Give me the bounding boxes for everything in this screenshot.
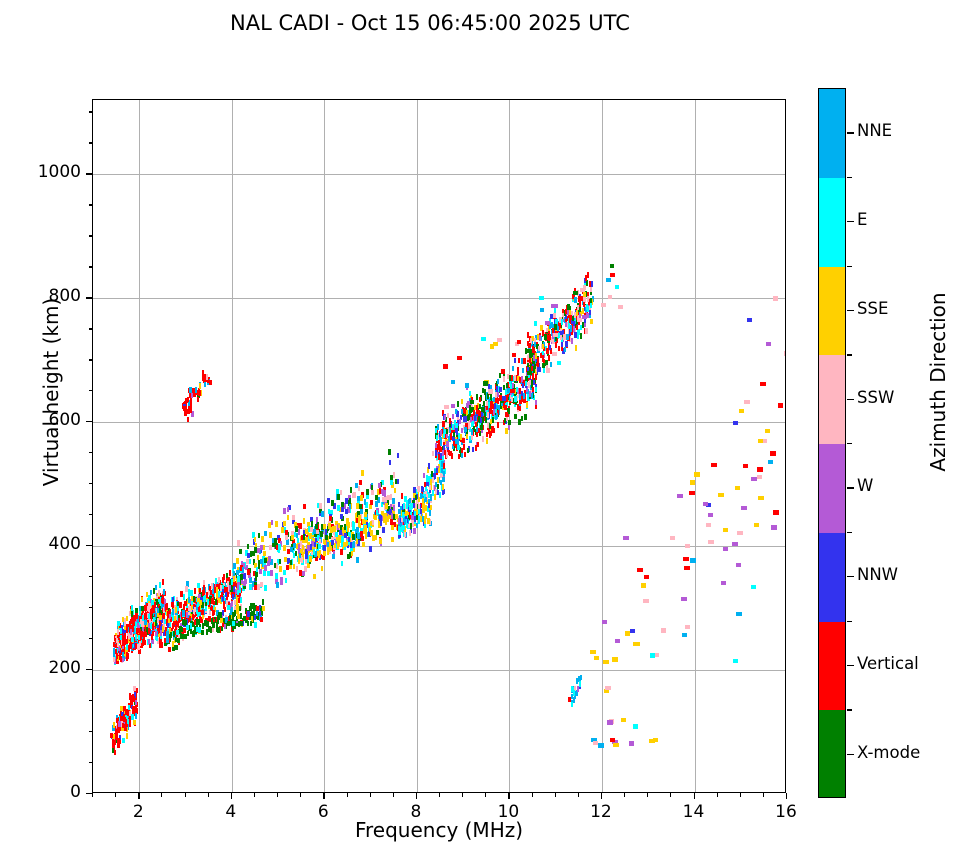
data-point xyxy=(488,390,493,394)
data-point xyxy=(117,738,120,744)
data-point xyxy=(633,724,639,728)
data-point xyxy=(185,406,187,412)
data-point xyxy=(535,387,537,393)
data-point xyxy=(390,519,393,525)
data-point xyxy=(436,435,438,441)
data-point xyxy=(187,397,189,403)
data-point xyxy=(264,531,267,537)
data-point xyxy=(332,554,335,560)
x-tick-major xyxy=(508,793,509,799)
data-point xyxy=(167,611,169,617)
data-point xyxy=(162,579,164,585)
data-point xyxy=(243,616,246,622)
data-point xyxy=(560,335,562,341)
data-point xyxy=(480,425,482,431)
data-point xyxy=(618,305,623,309)
data-point xyxy=(198,627,201,633)
data-point xyxy=(162,626,164,632)
data-point xyxy=(703,502,709,506)
data-point xyxy=(451,453,453,459)
data-point xyxy=(389,460,392,466)
colorbar-title: Azimuth Direction xyxy=(926,232,950,532)
data-point xyxy=(478,416,480,422)
data-point xyxy=(607,720,613,724)
data-point xyxy=(321,566,324,572)
data-point xyxy=(385,520,388,526)
colorbar-segment-x-mode[interactable] xyxy=(819,710,845,798)
data-point xyxy=(409,530,411,536)
data-point xyxy=(398,518,400,524)
data-point xyxy=(574,297,576,303)
y-tick-minor xyxy=(89,111,93,112)
data-point xyxy=(395,479,398,485)
data-point xyxy=(261,536,264,542)
data-point xyxy=(135,634,137,640)
data-point xyxy=(482,436,484,442)
data-point xyxy=(193,596,195,602)
data-point xyxy=(422,487,424,493)
data-point xyxy=(765,429,771,433)
y-tick-minor xyxy=(89,390,93,391)
data-point xyxy=(486,438,488,444)
data-point xyxy=(114,750,117,756)
data-point xyxy=(358,515,361,521)
data-point xyxy=(366,489,369,495)
data-point xyxy=(352,525,355,531)
data-point xyxy=(356,557,359,563)
colorbar-boundary-tick xyxy=(847,532,852,533)
data-point xyxy=(463,444,465,450)
data-point xyxy=(290,547,293,553)
colorbar-segment-nne[interactable] xyxy=(819,89,845,178)
data-point xyxy=(554,324,556,330)
data-point xyxy=(681,597,687,601)
y-tick-minor xyxy=(89,204,93,205)
data-point xyxy=(511,397,513,403)
colorbar-tick xyxy=(847,310,854,311)
data-point xyxy=(285,530,288,536)
data-point xyxy=(212,610,214,616)
data-point xyxy=(131,637,133,643)
data-point xyxy=(299,553,302,559)
data-point xyxy=(260,545,263,551)
data-point xyxy=(136,628,138,634)
data-point xyxy=(390,480,393,486)
colorbar-segment-e[interactable] xyxy=(819,178,845,267)
colorbar-tick xyxy=(847,132,854,133)
data-point xyxy=(365,533,368,539)
data-point xyxy=(338,523,341,529)
data-point xyxy=(457,445,459,451)
x-tick-major xyxy=(786,793,787,799)
data-point xyxy=(553,333,558,337)
data-point xyxy=(539,335,541,341)
data-point xyxy=(287,515,290,521)
data-point xyxy=(457,356,462,360)
data-point xyxy=(443,463,445,469)
data-point xyxy=(271,520,274,526)
data-point xyxy=(122,640,124,646)
data-point xyxy=(519,394,521,400)
data-point xyxy=(129,693,132,699)
data-point xyxy=(531,380,533,386)
x-tick-minor xyxy=(624,793,625,797)
data-point xyxy=(231,601,233,607)
data-point xyxy=(573,291,578,295)
data-point xyxy=(518,358,520,364)
x-tick-major xyxy=(416,793,417,799)
data-point xyxy=(133,686,136,692)
colorbar-segment-ssw[interactable] xyxy=(819,355,845,444)
data-point xyxy=(545,321,550,325)
data-point xyxy=(444,415,446,421)
data-point xyxy=(375,495,378,501)
data-point xyxy=(534,321,536,327)
data-point xyxy=(314,542,317,548)
y-tick-major xyxy=(86,669,92,670)
data-point xyxy=(606,278,611,282)
data-point xyxy=(337,505,340,511)
data-point xyxy=(215,599,217,605)
data-point xyxy=(175,607,177,613)
data-point xyxy=(264,585,267,591)
data-point xyxy=(124,633,126,639)
data-point xyxy=(375,501,378,507)
data-point xyxy=(233,576,235,582)
data-point xyxy=(340,514,343,520)
data-point xyxy=(349,498,352,504)
data-point xyxy=(209,380,211,386)
data-point xyxy=(168,647,171,653)
data-point xyxy=(117,743,120,749)
data-point xyxy=(582,315,587,319)
data-point xyxy=(323,545,326,551)
data-point xyxy=(587,313,589,319)
data-point xyxy=(452,414,454,420)
data-point xyxy=(497,379,499,385)
data-point xyxy=(736,563,742,567)
data-point xyxy=(275,521,278,527)
data-point xyxy=(573,697,575,703)
data-point xyxy=(563,334,565,340)
data-point xyxy=(364,499,367,505)
data-point xyxy=(305,529,308,535)
colorbar-segment-sse[interactable] xyxy=(819,267,845,356)
data-point xyxy=(446,441,448,447)
plot-area[interactable] xyxy=(92,99,786,793)
data-point xyxy=(283,570,286,576)
data-point xyxy=(428,476,430,482)
data-point xyxy=(552,352,557,356)
data-point xyxy=(311,521,314,527)
data-point xyxy=(397,453,400,459)
data-point xyxy=(217,618,220,624)
data-point xyxy=(528,343,530,349)
data-point xyxy=(567,304,569,310)
colorbar-label-nnw: NNW xyxy=(857,565,898,584)
data-point xyxy=(424,482,426,488)
data-point xyxy=(502,396,507,400)
data-point xyxy=(175,637,178,643)
colorbar-segment-w[interactable] xyxy=(819,444,845,533)
data-point xyxy=(371,485,374,491)
data-point xyxy=(685,625,691,629)
scatter-data xyxy=(93,100,785,792)
y-tick-label: 200 xyxy=(8,658,81,678)
data-point xyxy=(416,515,418,521)
data-point xyxy=(587,272,589,278)
data-point xyxy=(232,594,234,600)
data-point xyxy=(247,621,250,627)
data-point xyxy=(186,625,189,631)
y-tick-major xyxy=(86,297,92,298)
data-point xyxy=(224,607,226,613)
data-point xyxy=(352,534,355,540)
data-point xyxy=(757,475,763,479)
colorbar-label-x-mode: X-mode xyxy=(857,743,920,762)
data-point xyxy=(613,743,619,747)
data-point xyxy=(546,348,548,354)
data-point xyxy=(293,564,296,570)
data-point xyxy=(587,296,589,302)
data-point xyxy=(577,334,579,340)
data-point xyxy=(542,344,544,350)
colorbar-tick xyxy=(847,576,854,577)
data-point xyxy=(458,454,460,460)
data-point xyxy=(559,323,561,329)
data-point xyxy=(236,558,239,564)
data-point xyxy=(298,544,301,550)
ionogram-figure: NAL CADI - Oct 15 06:45:00 2025 UTC 2468… xyxy=(0,0,958,857)
data-point xyxy=(341,561,344,567)
data-point xyxy=(182,619,185,625)
data-point xyxy=(525,381,527,387)
data-point xyxy=(169,614,171,620)
data-point xyxy=(768,460,774,464)
data-point xyxy=(374,515,377,521)
data-point xyxy=(403,503,405,509)
y-tick-minor xyxy=(89,483,93,484)
data-point xyxy=(285,578,288,584)
data-point xyxy=(188,597,190,603)
data-point xyxy=(565,341,567,347)
x-tick-minor xyxy=(347,793,348,797)
data-point xyxy=(117,621,119,627)
data-point xyxy=(736,612,742,616)
data-point xyxy=(580,288,585,292)
data-point xyxy=(138,635,140,641)
data-point xyxy=(543,368,545,374)
colorbar-segment-nnw[interactable] xyxy=(819,533,845,622)
data-point xyxy=(496,413,498,419)
colorbar-segment-vertical[interactable] xyxy=(819,622,845,711)
data-point xyxy=(240,574,243,580)
data-point xyxy=(166,603,168,609)
data-point xyxy=(276,563,279,569)
data-point xyxy=(255,576,258,582)
y-tick-label: 0 xyxy=(8,782,81,802)
data-point xyxy=(307,545,310,551)
data-point xyxy=(250,605,253,611)
data-point xyxy=(257,548,260,554)
data-point xyxy=(286,539,289,545)
data-point xyxy=(615,285,620,289)
data-point xyxy=(336,489,339,495)
x-tick-major xyxy=(231,793,232,799)
data-point xyxy=(422,516,424,522)
data-point xyxy=(205,606,207,612)
data-point xyxy=(290,560,293,566)
data-point xyxy=(303,518,306,524)
data-point xyxy=(287,549,290,555)
data-point xyxy=(254,615,257,621)
data-point xyxy=(423,473,425,479)
data-point xyxy=(187,409,189,415)
data-point xyxy=(298,558,301,564)
data-point xyxy=(557,361,562,365)
data-point xyxy=(612,657,618,661)
data-point xyxy=(483,401,485,407)
data-point xyxy=(150,613,152,619)
data-point xyxy=(670,536,676,540)
data-point xyxy=(272,538,275,544)
data-point xyxy=(601,303,606,307)
data-point xyxy=(159,615,161,621)
data-point xyxy=(733,659,739,663)
data-point xyxy=(450,435,452,441)
data-point xyxy=(490,394,492,400)
data-point xyxy=(744,400,750,404)
data-point xyxy=(278,544,281,550)
x-tick-major xyxy=(138,793,139,799)
data-point xyxy=(512,366,514,372)
data-point xyxy=(488,429,490,435)
data-point xyxy=(124,618,126,624)
x-tick-minor xyxy=(185,793,186,797)
data-point xyxy=(766,342,772,346)
x-tick-minor xyxy=(532,793,533,797)
x-tick-minor xyxy=(254,793,255,797)
data-point xyxy=(579,681,581,687)
data-point xyxy=(413,528,416,534)
data-point xyxy=(206,374,208,380)
data-point xyxy=(471,435,473,441)
data-point xyxy=(456,429,458,435)
data-point xyxy=(329,516,332,522)
data-point xyxy=(561,342,563,348)
data-point xyxy=(451,404,456,408)
data-point xyxy=(242,567,245,573)
data-point xyxy=(204,382,206,388)
data-point xyxy=(236,570,238,576)
data-point xyxy=(328,509,331,515)
data-point xyxy=(760,382,766,386)
data-point xyxy=(360,495,363,501)
data-point xyxy=(269,532,272,538)
data-point xyxy=(263,570,266,576)
data-point xyxy=(199,383,201,389)
data-point xyxy=(132,620,134,626)
data-point xyxy=(302,571,305,577)
data-point xyxy=(166,637,169,643)
data-point xyxy=(227,621,230,627)
data-point xyxy=(202,630,205,636)
data-point xyxy=(629,741,635,745)
data-point xyxy=(539,296,544,300)
data-point xyxy=(357,533,360,539)
data-point xyxy=(517,340,522,344)
x-tick-minor xyxy=(578,793,579,797)
data-point xyxy=(327,547,330,553)
data-point xyxy=(770,451,776,455)
data-point xyxy=(126,652,128,658)
data-point xyxy=(197,602,199,608)
x-tick-major xyxy=(694,793,695,799)
data-point xyxy=(521,376,523,382)
data-point xyxy=(593,741,599,745)
data-point xyxy=(224,624,227,630)
data-point xyxy=(370,521,373,527)
data-point xyxy=(250,551,253,557)
data-point xyxy=(534,342,536,348)
colorbar[interactable] xyxy=(818,88,846,798)
data-point xyxy=(424,516,427,522)
data-point xyxy=(382,497,385,503)
data-point xyxy=(211,598,213,604)
data-point xyxy=(706,523,712,527)
data-point xyxy=(387,495,390,501)
data-point xyxy=(227,581,229,587)
data-point xyxy=(246,559,249,565)
data-point xyxy=(206,592,208,598)
data-point xyxy=(747,318,753,322)
data-point xyxy=(148,614,150,620)
data-point xyxy=(440,441,442,447)
data-point xyxy=(625,631,631,635)
data-point xyxy=(233,563,235,569)
data-point xyxy=(155,620,157,626)
data-point xyxy=(182,634,185,640)
data-point xyxy=(442,490,444,496)
data-point xyxy=(283,521,286,527)
data-point xyxy=(128,705,131,711)
data-point xyxy=(191,411,193,417)
data-point xyxy=(610,273,615,277)
data-point xyxy=(262,606,265,612)
data-point xyxy=(310,527,313,533)
x-tick-minor xyxy=(763,793,764,797)
data-point xyxy=(388,449,391,455)
colorbar-label-vertical: Vertical xyxy=(857,654,919,673)
data-point xyxy=(303,534,306,540)
data-point xyxy=(548,355,550,361)
data-point xyxy=(276,582,279,588)
data-point xyxy=(483,381,488,385)
data-point xyxy=(344,533,347,539)
data-point xyxy=(561,319,563,325)
data-point xyxy=(582,308,584,314)
data-point xyxy=(430,494,432,500)
data-point xyxy=(319,539,322,545)
colorbar-tick xyxy=(847,399,854,400)
data-point xyxy=(281,527,284,533)
data-point xyxy=(537,367,542,371)
data-point xyxy=(166,631,169,637)
data-point xyxy=(733,421,739,425)
data-point xyxy=(238,598,240,604)
data-point xyxy=(207,599,209,605)
data-point xyxy=(443,364,448,368)
